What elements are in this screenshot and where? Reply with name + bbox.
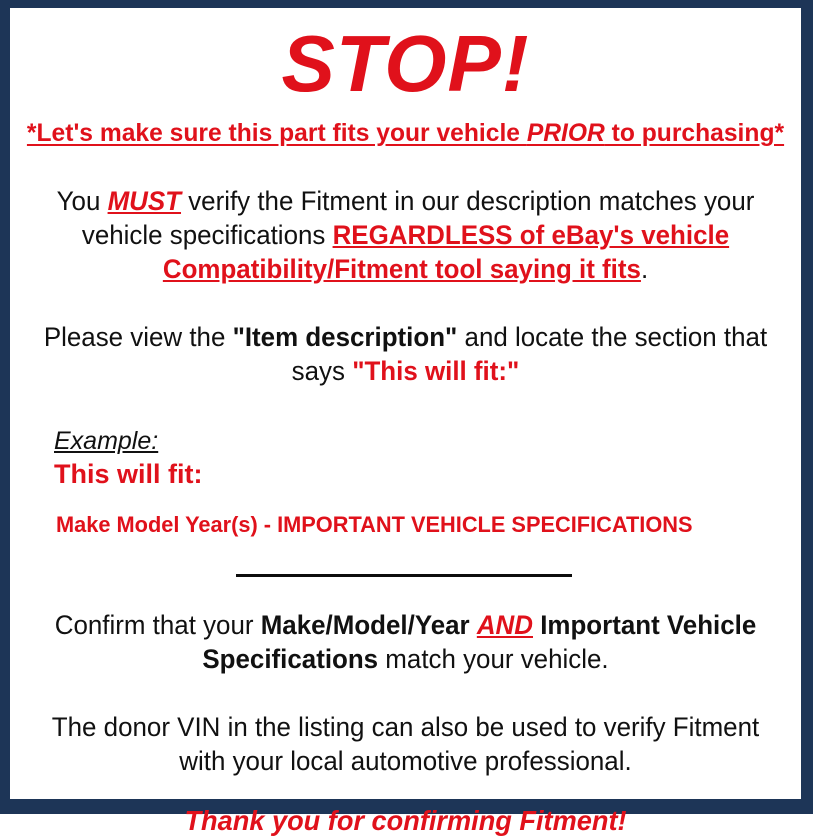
example-label: Example: bbox=[54, 426, 158, 456]
example-block: Example: This will fit: Make Model Year(… bbox=[16, 388, 795, 538]
must-verify-paragraph: You MUST verify the Fitment in our descr… bbox=[32, 148, 780, 286]
confirm-paragraph: Confirm that your Make/Model/Year AND Im… bbox=[32, 582, 780, 676]
confirm-seg-tail: match your vehicle. bbox=[378, 644, 609, 674]
this-will-fit-quote: "This will fit:" bbox=[352, 356, 519, 386]
itemdesc-seg-lead: Please view the bbox=[44, 322, 233, 352]
donor-vin-paragraph: The donor VIN in the listing can also be… bbox=[32, 676, 780, 778]
example-fit-specification: Make Model Year(s) - IMPORTANT VEHICLE S… bbox=[54, 490, 788, 538]
section-divider-wrap bbox=[16, 538, 795, 582]
banner-prior-emphasis: PRIOR bbox=[527, 119, 605, 147]
fitment-notice-card: STOP! *Let's make sure this part fits yo… bbox=[0, 0, 813, 814]
item-description-label: "Item description" bbox=[233, 322, 458, 352]
thank-you-line: Thank you for confirming Fitment! bbox=[28, 778, 784, 838]
stop-headline: STOP! bbox=[16, 8, 795, 112]
fitment-notice-body: STOP! *Let's make sure this part fits yo… bbox=[10, 8, 801, 799]
must-seg-period: . bbox=[641, 254, 648, 284]
and-emphasis: AND bbox=[477, 610, 533, 640]
example-fit-heading: This will fit: bbox=[54, 456, 795, 490]
must-seg-lead: You bbox=[57, 186, 108, 216]
section-divider-line bbox=[236, 574, 572, 577]
make-model-year-bold: Make/Model/Year bbox=[261, 610, 470, 640]
must-emphasis: MUST bbox=[108, 186, 181, 216]
example-label-row: Example: bbox=[54, 426, 795, 456]
item-description-paragraph: Please view the "Item description" and l… bbox=[32, 286, 780, 388]
banner-prefix-text: *Let's make sure this part fits your veh… bbox=[27, 119, 527, 147]
banner-line: *Let's make sure this part fits your veh… bbox=[22, 112, 789, 148]
banner-suffix-text: to purchasing* bbox=[605, 119, 784, 147]
confirm-seg-lead: Confirm that your bbox=[55, 610, 261, 640]
